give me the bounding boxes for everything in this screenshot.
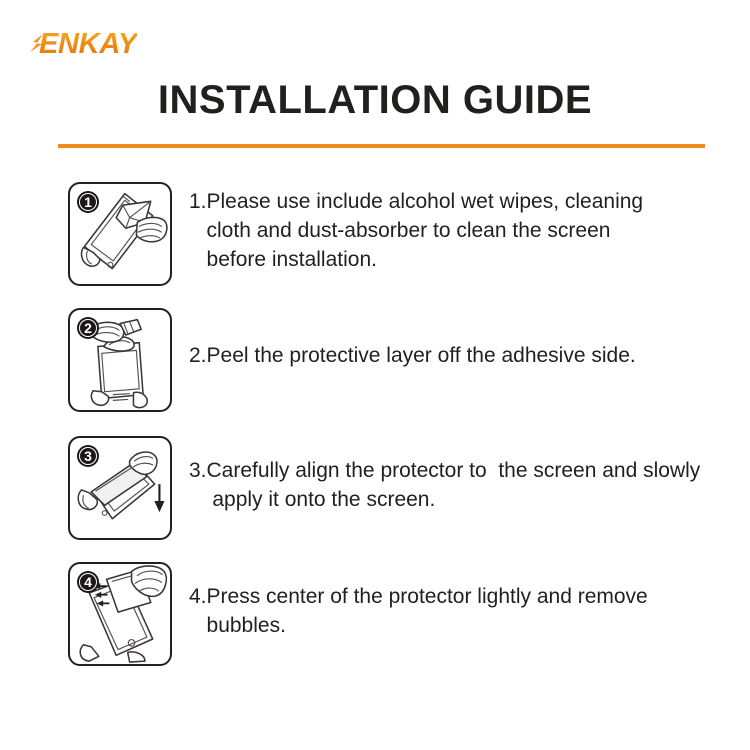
- step-text: 3.Carefully align the protector to the s…: [189, 456, 750, 514]
- step-number: 3: [84, 448, 92, 464]
- page-title: INSTALLATION GUIDE: [0, 78, 750, 123]
- step-badge: 2: [77, 317, 99, 339]
- step-item: 4 4.Press center of the protector lightl…: [0, 562, 750, 666]
- step-badge: 3: [77, 445, 99, 467]
- step-illustration-3: 3: [68, 436, 172, 540]
- brand-logo: ENKAY: [30, 27, 137, 61]
- title-divider: [58, 144, 705, 148]
- step-illustration-2: 2: [68, 308, 172, 412]
- brand-name: ENKAY: [39, 30, 137, 59]
- step-badge: 1: [77, 191, 99, 213]
- step-number: 4: [84, 574, 92, 590]
- step-item: 3 3.Carefully align the protector to the…: [0, 436, 750, 540]
- step-item: 1 1.Please use include alcohol wet wipes…: [0, 182, 750, 286]
- step-illustration-4: 4: [68, 562, 172, 666]
- step-item: 2 2.Peel the protective layer off the ad…: [0, 308, 750, 412]
- installation-guide-page: ENKAY INSTALLATION GUIDE: [0, 0, 750, 750]
- step-badge: 4: [77, 571, 99, 593]
- step-text: 1.Please use include alcohol wet wipes, …: [189, 187, 750, 274]
- step-number: 1: [84, 194, 92, 210]
- step-number: 2: [84, 320, 92, 336]
- steps-list: 1 1.Please use include alcohol wet wipes…: [0, 178, 750, 666]
- step-illustration-1: 1: [68, 182, 172, 286]
- step-text: 2.Peel the protective layer off the adhe…: [189, 341, 750, 370]
- enkay-swoosh-icon: [30, 33, 44, 57]
- step-text: 4.Press center of the protector lightly …: [189, 582, 750, 640]
